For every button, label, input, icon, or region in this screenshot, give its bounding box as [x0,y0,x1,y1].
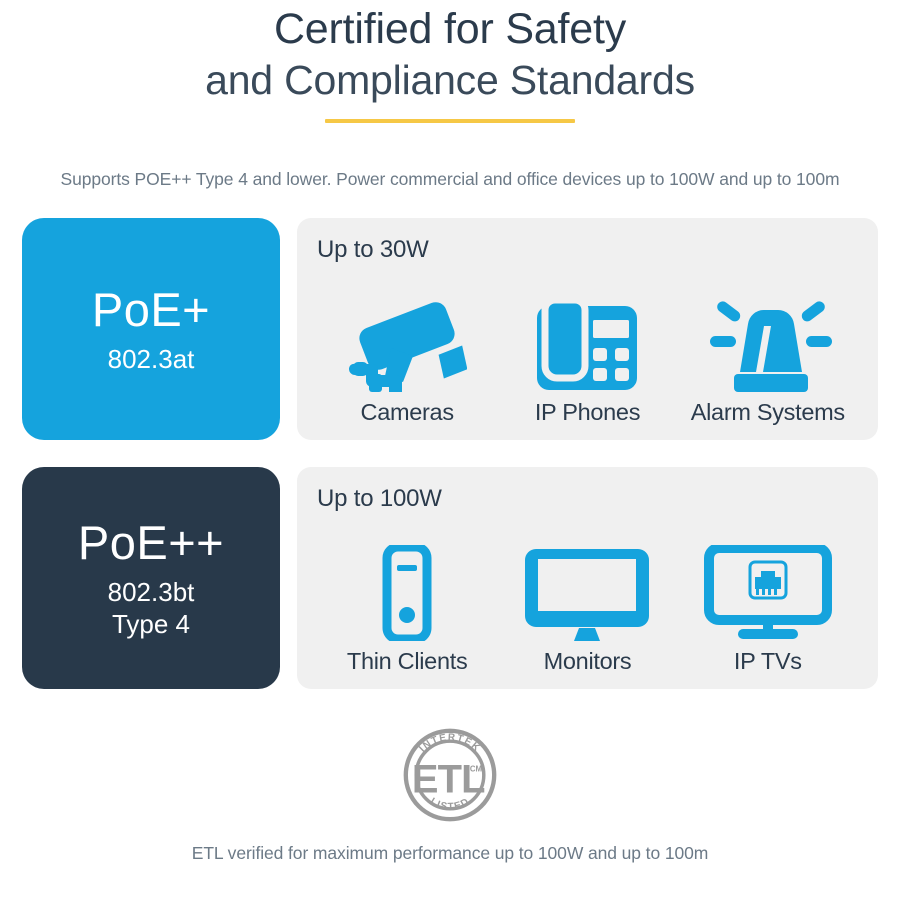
monitor-icon [523,537,651,641]
badge-superscript-text: CM [470,765,482,774]
device-grid-100w: Thin Clients Monitors [317,513,858,677]
ip-tv-icon [704,537,832,641]
subtitle-text: Supports POE++ Type 4 and lower. Power c… [0,169,900,190]
page-title-line-1: Certified for Safety [0,4,900,54]
device-panel-30w: Up to 30W [297,218,878,440]
poe-plus-plus-title: PoE++ [78,516,224,570]
poe-plus-plus-standard: 802.3bt Type 4 [108,576,195,640]
thin-client-tower-icon [377,537,437,641]
alarm-beacon-icon [694,288,842,392]
device-item-ip-tvs: IP TVs [679,537,858,675]
poe-plus-plus-standard-line-2: Type 4 [108,608,195,640]
device-label-ip-tvs: IP TVs [734,648,802,675]
title-accent-rule [325,119,575,123]
footer-note-text: ETL verified for maximum performance up … [0,843,900,864]
poe-tier-row: PoE++ 802.3bt Type 4 Up to 100W T [22,467,878,689]
device-item-alarm-systems: Alarm Systems [679,288,858,426]
page-header: Certified for Safety and Compliance Stan… [0,0,900,123]
device-label-ip-phones: IP Phones [535,399,640,426]
poe-tier-row: PoE+ 802.3at Up to 30W [22,218,878,440]
poe-plus-standard-line-1: 802.3at [108,344,195,374]
etl-listed-intertek-badge-icon: INTERTEK LISTED ETL CM [398,723,502,827]
panel-heading-100w: Up to 100W [317,485,858,513]
poe-plus-plus-badge-card: PoE++ 802.3bt Type 4 [22,467,280,689]
device-panel-100w: Up to 100W Thin Clients [297,467,878,689]
poe-plus-plus-standard-line-1: 802.3bt [108,577,195,607]
device-item-thin-clients: Thin Clients [318,537,497,675]
poe-tier-rows: PoE+ 802.3at Up to 30W [0,218,900,689]
poe-plus-badge-card: PoE+ 802.3at [22,218,280,440]
security-camera-icon [347,288,467,392]
device-label-thin-clients: Thin Clients [347,648,467,675]
poe-plus-standard: 802.3at [108,343,195,375]
device-grid-30w: Cameras IP Phones [317,264,858,428]
device-item-cameras: Cameras [318,288,497,426]
device-label-cameras: Cameras [361,399,454,426]
poe-plus-title: PoE+ [92,283,210,337]
device-label-alarm-systems: Alarm Systems [691,399,845,426]
device-label-monitors: Monitors [544,648,632,675]
page-footer: INTERTEK LISTED ETL CM ETL verified for … [0,723,900,864]
device-item-ip-phones: IP Phones [498,288,677,426]
ip-phone-icon [535,288,639,392]
device-item-monitors: Monitors [498,537,677,675]
panel-heading-30w: Up to 30W [317,236,858,264]
page-title-line-2: and Compliance Standards [0,54,900,106]
